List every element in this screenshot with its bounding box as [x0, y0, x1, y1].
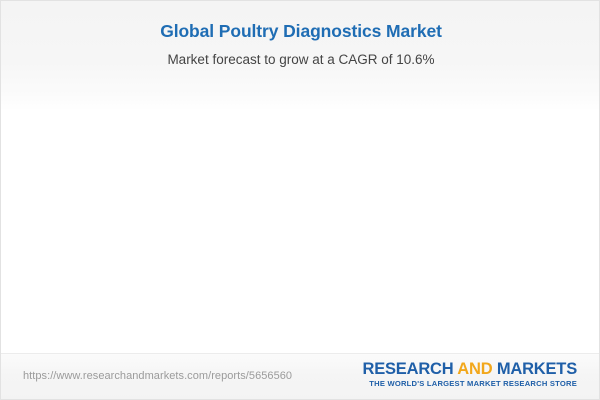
brand-tagline: THE WORLD'S LARGEST MARKET RESEARCH STOR…: [362, 379, 577, 389]
chart-card: Global Poultry Diagnostics Market Market…: [0, 0, 600, 400]
brand-word-and: AND: [457, 360, 497, 378]
report-url[interactable]: https://www.researchandmarkets.com/repor…: [23, 370, 292, 382]
brand-logo[interactable]: RESEARCH AND MARKETS THE WORLD'S LARGEST…: [362, 361, 577, 389]
plot-area: USD 395.1 Million 2021 USD 722.5 Million: [1, 1, 600, 353]
brand-wordmark: RESEARCH AND MARKETS: [362, 361, 577, 378]
brand-word-markets: MARKETS: [497, 360, 577, 378]
brand-word-research: RESEARCH: [362, 360, 457, 378]
